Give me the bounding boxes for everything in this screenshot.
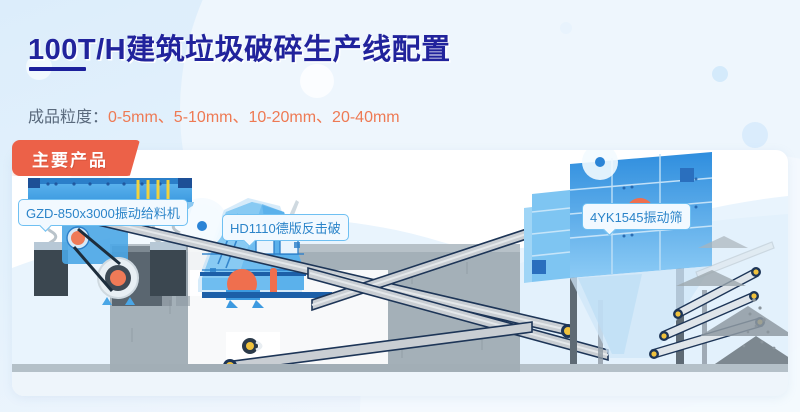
decor-circle-5 bbox=[560, 22, 572, 34]
title-underline-rule bbox=[29, 67, 86, 71]
product-card bbox=[12, 150, 788, 396]
section-badge: 主要产品 bbox=[12, 140, 140, 176]
poster-root: 100T/H建筑垃圾破碎生产线配置 成品粒度：0-5mm、5-10mm、10-2… bbox=[0, 0, 800, 412]
decor-circle-1 bbox=[300, 64, 334, 98]
page-title: 100T/H建筑垃圾破碎生产线配置 bbox=[28, 26, 451, 68]
crusher-hydraulic-rod bbox=[270, 268, 277, 296]
equipment-label-feeder[interactable]: GZD-850x3000振动给料机 bbox=[18, 199, 188, 226]
spec-label: 成品粒度： bbox=[28, 109, 108, 126]
badge-label: 主要产品 bbox=[12, 140, 128, 176]
production-line-illustration bbox=[12, 150, 788, 396]
equipment-label-screen[interactable]: 4YK1545振动筛 bbox=[582, 203, 691, 230]
decor-circle-2 bbox=[712, 66, 728, 82]
equipment-label-crusher[interactable]: HD1110德版反击破 bbox=[222, 214, 349, 241]
spec-line: 成品粒度：0-5mm、5-10mm、10-20mm、20-40mm bbox=[28, 103, 400, 127]
spec-value: 0-5mm、5-10mm、10-20mm、20-40mm bbox=[108, 109, 400, 126]
decor-circle-3 bbox=[742, 122, 768, 148]
screen-bracket-left bbox=[532, 260, 546, 274]
ground-shadow-band bbox=[12, 372, 788, 396]
feeder-leg-right bbox=[150, 246, 186, 296]
screen-bracket-right bbox=[680, 168, 694, 182]
